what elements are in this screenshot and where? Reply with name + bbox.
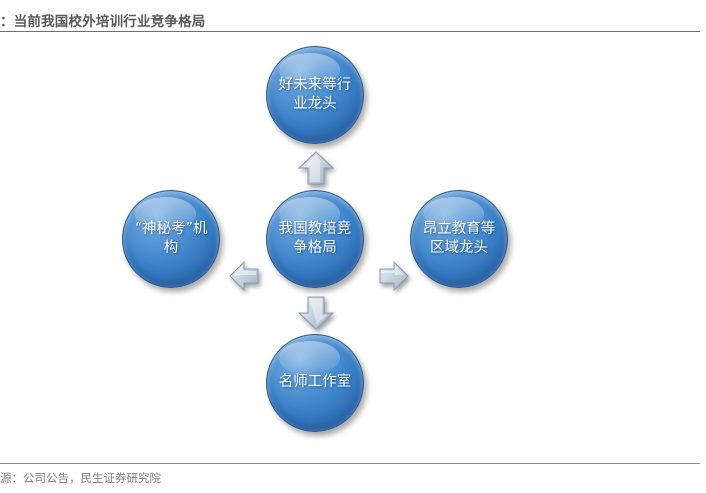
title-divider: [0, 31, 700, 32]
arrow-down-icon: [298, 296, 334, 330]
diagram-node-label: “神秘考”机构: [133, 220, 209, 258]
diagram-node-center[interactable]: 我国教培竞争格局: [266, 190, 364, 288]
diagram-node-label: 好未来等行业龙头: [277, 76, 353, 114]
diagram-node-label: 我国教培竞争格局: [277, 220, 353, 258]
arrow-up-icon: [298, 151, 334, 185]
arrow-right-icon: [379, 261, 409, 291]
diagram-node-top[interactable]: 好未来等行业龙头: [266, 46, 364, 144]
page-title: ：当前我国校外培训行业竞争格局: [0, 10, 206, 30]
diagram-node-left[interactable]: “神秘考”机构: [122, 190, 220, 288]
arrow-left-icon: [229, 261, 259, 291]
source-note: 源：公司公告，民生证券研究院: [0, 470, 161, 486]
competitive-landscape-diagram: 好未来等行业龙头 “神秘考”机构 我国教培竞争格局 昂立教育等区域龙头 名师工作…: [0, 34, 706, 446]
diagram-node-right[interactable]: 昂立教育等区域龙头: [410, 190, 508, 288]
chart-header: ：当前我国校外培训行业竞争格局: [0, 10, 706, 34]
diagram-node-label: 昂立教育等区域龙头: [421, 220, 497, 258]
footer-divider: [0, 463, 700, 464]
diagram-node-bottom[interactable]: 名师工作室: [266, 334, 364, 432]
diagram-node-label: 名师工作室: [277, 373, 353, 392]
